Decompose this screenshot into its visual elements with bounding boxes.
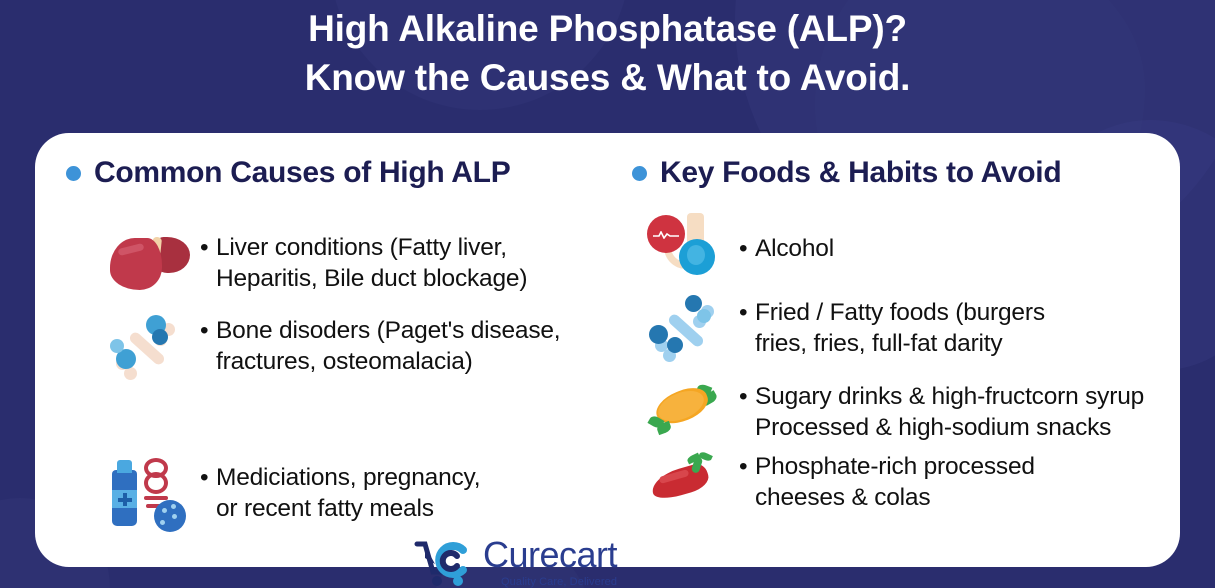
blue-dot-icon <box>66 166 81 181</box>
curecart-logo: Curecart Quality Care, Delivered <box>413 536 617 588</box>
list-item: •Sugary drinks & high-fructcorn syrup Pr… <box>647 381 1144 443</box>
medicine-bottle-dna-icon <box>108 458 186 532</box>
list-item-text: •Sugary drinks & high-fructcorn syrup Pr… <box>739 381 1144 443</box>
list-item-line: •Mediciations, pregnancy, <box>200 464 480 491</box>
bone-icon <box>108 311 186 385</box>
list-item-line: •Alcohol <box>739 235 834 262</box>
stethoscope-heartbeat-icon <box>647 211 725 285</box>
left-heading-label: Common Causes of High ALP <box>94 156 510 190</box>
list-item-text: •Liver conditions (Fatty liver, Hepariti… <box>200 228 527 294</box>
title-line-1: High Alkaline Phosphatase (ALP)? <box>308 8 907 49</box>
list-item-line: •Phosphate-rich processed <box>739 453 1035 480</box>
list-item-line: Heparitis, Bile duct blockage) <box>200 265 527 292</box>
list-item: •Phosphate-rich processed cheeses & cola… <box>647 451 1035 513</box>
right-column: Key Foods & Habits to Avoid •Alcohol <box>635 133 1180 567</box>
bone-molecule-icon <box>647 293 725 367</box>
right-heading-label: Key Foods & Habits to Avoid <box>660 156 1061 190</box>
list-item-line: •Liver conditions (Fatty liver, <box>200 234 507 261</box>
carrot-icon <box>647 381 725 443</box>
page-title: High Alkaline Phosphatase (ALP)? Know th… <box>0 4 1215 102</box>
list-item-line: •Fried / Fatty foods (burgers <box>739 299 1045 326</box>
blue-dot-icon <box>632 166 647 181</box>
list-item-line: fries, fries, full-fat darity <box>739 330 1002 357</box>
list-item: •Alcohol <box>647 211 834 285</box>
title-line-2: Know the Causes & What to Avoid. <box>0 53 1215 102</box>
right-column-heading: Key Foods & Habits to Avoid <box>632 156 1061 190</box>
list-item: •Fried / Fatty foods (burgers fries, fri… <box>647 293 1045 367</box>
list-item-text: •Fried / Fatty foods (burgers fries, fri… <box>739 293 1045 359</box>
list-item-line: or recent fatty meals <box>200 495 434 522</box>
list-item: •Liver conditions (Fatty liver, Hepariti… <box>108 228 527 302</box>
content-card: Common Causes of High ALP •Liver conditi… <box>35 133 1180 567</box>
list-item-text: •Bone disoders (Paget's disease, fractur… <box>200 311 560 377</box>
list-item-text: •Mediciations, pregnancy, or recent fatt… <box>200 458 480 524</box>
list-item-line: •Sugary drinks & high-fructcorn syrup <box>739 383 1144 410</box>
curecart-cart-icon <box>413 536 475 588</box>
liver-icon <box>108 228 186 302</box>
list-item-line: Processed & high-sodium snacks <box>739 414 1111 441</box>
list-item-line: cheeses & colas <box>739 484 930 511</box>
chili-pepper-icon <box>647 451 725 513</box>
left-column: Common Causes of High ALP •Liver conditi… <box>35 133 635 567</box>
list-item-line: fractures, osteomalacia) <box>200 348 473 375</box>
list-item: •Mediciations, pregnancy, or recent fatt… <box>108 458 480 532</box>
list-item-text: •Phosphate-rich processed cheeses & cola… <box>739 451 1035 513</box>
logo-name: Curecart <box>483 534 617 575</box>
left-column-heading: Common Causes of High ALP <box>66 156 510 190</box>
list-item-text: •Alcohol <box>739 211 834 264</box>
logo-tagline: Quality Care, Delivered <box>483 576 617 588</box>
list-item: •Bone disoders (Paget's disease, fractur… <box>108 311 560 385</box>
list-item-line: •Bone disoders (Paget's disease, <box>200 317 560 344</box>
